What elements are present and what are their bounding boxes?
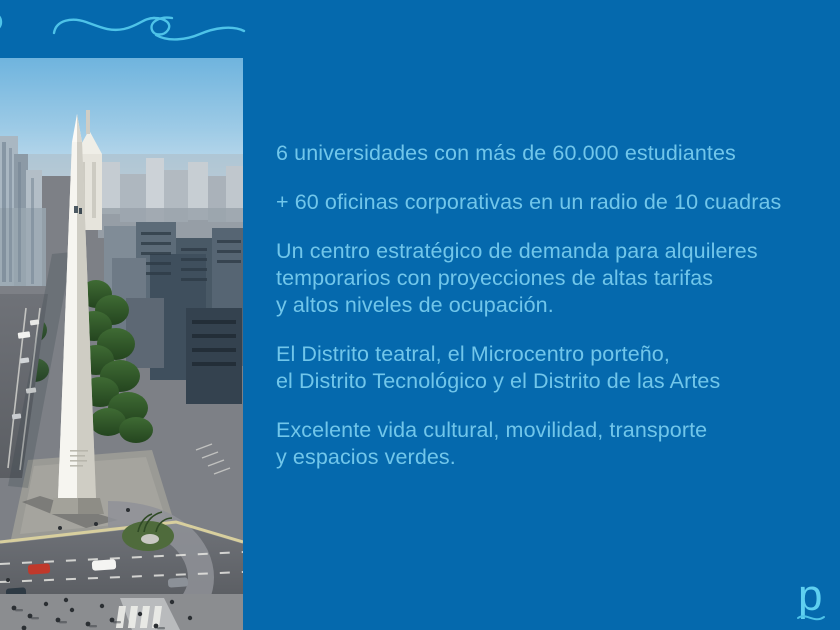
copy-line: el Distrito Tecnológico y el Distrito de…	[276, 368, 840, 395]
copy-line: El Distrito teatral, el Microcentro port…	[276, 341, 840, 368]
wavy-line-with-loop-icon	[0, 2, 250, 56]
obelisco-photo-image	[0, 58, 243, 630]
copy-line: temporarios con proyecciones de altas ta…	[276, 265, 840, 292]
paragraph-distritos: El Distrito teatral, el Microcentro port…	[276, 341, 840, 395]
copy-line: y espacios verdes.	[276, 444, 840, 471]
obelisco-photo	[0, 58, 243, 630]
copy-line: y altos niveles de ocupación.	[276, 292, 840, 319]
copy-line: + 60 oficinas corporativas en un radio d…	[276, 189, 840, 216]
paragraph-oficinas: + 60 oficinas corporativas en un radio d…	[276, 189, 840, 216]
brand-logo-p-icon: p	[794, 570, 840, 630]
paragraph-universidades: 6 universidades con más de 60.000 estudi…	[276, 140, 840, 167]
presentation-slide: 6 universidades con más de 60.000 estudi…	[0, 0, 840, 630]
paragraph-centro-estrategico: Un centro estratégico de demanda para al…	[276, 238, 840, 319]
brand-logo: p	[794, 570, 840, 630]
paragraph-vida-cultural: Excelente vida cultural, movilidad, tran…	[276, 417, 840, 471]
slide-body-copy: 6 universidades con más de 60.000 estudi…	[276, 140, 840, 471]
copy-line: Un centro estratégico de demanda para al…	[276, 238, 840, 265]
squiggle-decoration	[0, 0, 250, 58]
brand-logo-letter: p	[798, 571, 822, 620]
copy-line: 6 universidades con más de 60.000 estudi…	[276, 140, 840, 167]
copy-line: Excelente vida cultural, movilidad, tran…	[276, 417, 840, 444]
